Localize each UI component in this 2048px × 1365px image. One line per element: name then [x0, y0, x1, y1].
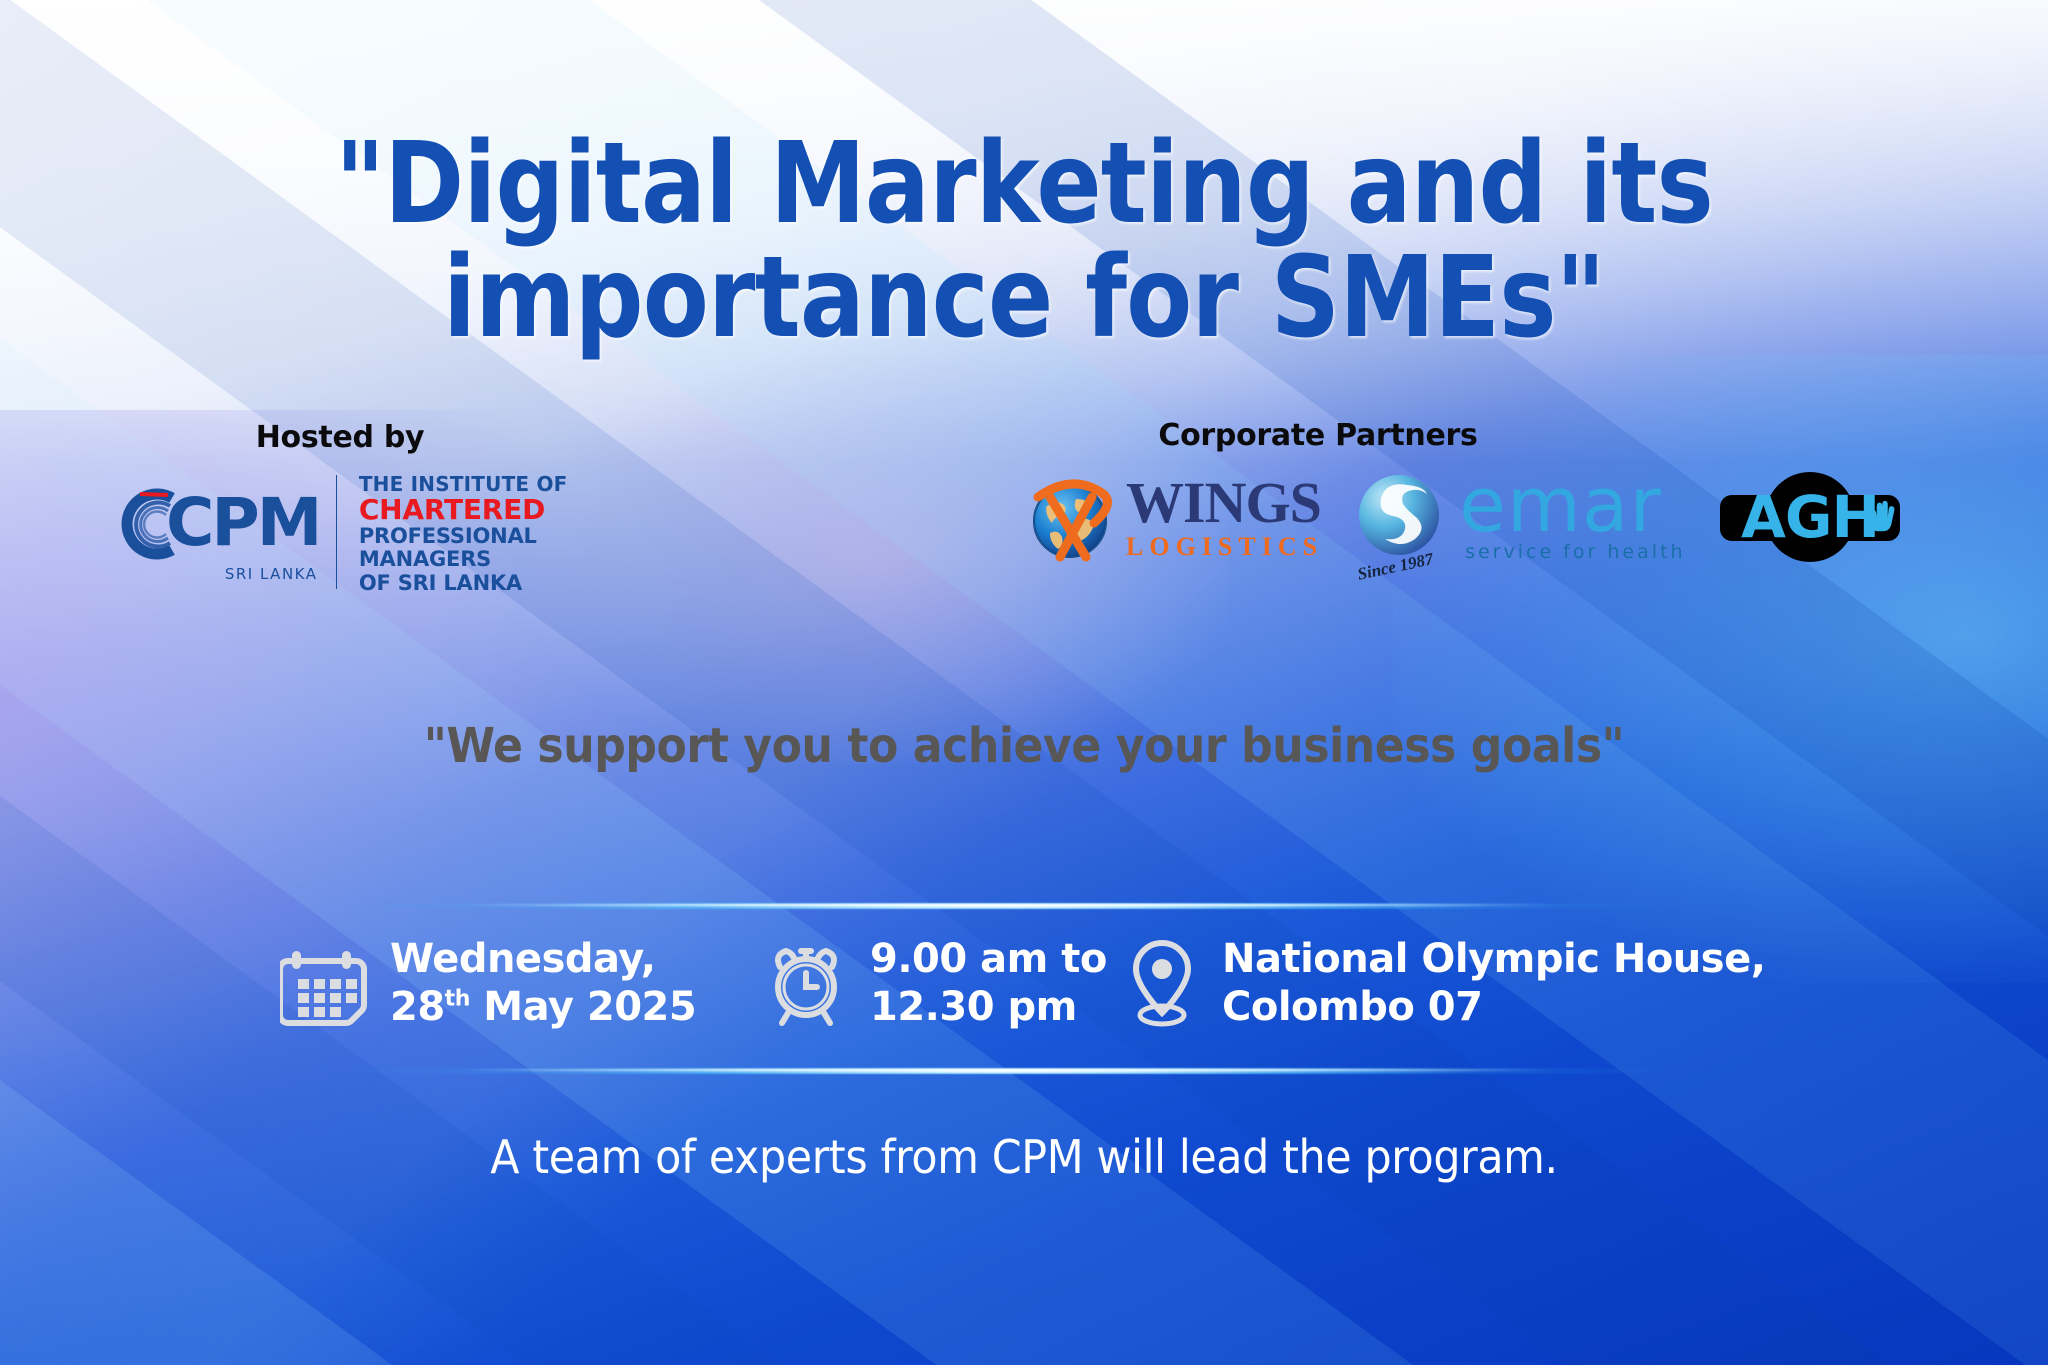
- corporate-partners-block: Corporate Partners: [1020, 418, 1980, 571]
- svg-text:AGH: AGH: [1740, 483, 1878, 551]
- event-date-item: Wednesday, 28th May 2025: [280, 935, 760, 1031]
- cpm-logo-text: THE INSTITUTE OF CHARTERED PROFESSIONAL …: [359, 473, 570, 595]
- partner-logo-emar: Since 1987 emar service for health: [1349, 467, 1685, 571]
- corporate-partners-label: Corporate Partners: [1038, 418, 1598, 453]
- emar-tagline: service for health: [1459, 541, 1685, 563]
- event-info-bar: Wednesday, 28th May 2025 9.0: [280, 935, 1800, 1031]
- cpm-logomark: CPM SRI LANKA: [110, 486, 320, 583]
- partner-logo-wings: WINGS LOGISTICS: [1020, 471, 1323, 567]
- wings-tagline: LOGISTICS: [1126, 532, 1323, 562]
- wings-wordmark: WINGS: [1126, 476, 1323, 529]
- event-date-ordinal: th: [445, 987, 470, 1012]
- event-title-line-1: "Digital Marketing and its: [335, 119, 1713, 249]
- partner-logo-row: WINGS LOGISTICS: [1020, 467, 1980, 571]
- footer-note: A team of experts from CPM will lead the…: [72, 1130, 1977, 1184]
- event-title-line-2: importance for SMEs": [143, 241, 1904, 355]
- calendar-icon: [280, 937, 372, 1029]
- cpm-country: SRI LANKA: [225, 565, 318, 583]
- partner-logo-agh: AGH: [1712, 469, 1908, 570]
- agh-logomark: AGH: [1712, 469, 1908, 565]
- event-banner: "Digital Marketing and its importance fo…: [0, 0, 2048, 1365]
- hosted-by-label: Hosted by: [110, 420, 570, 455]
- event-venue-line-2: Colombo 07: [1222, 983, 1765, 1031]
- hosted-by-block: Hosted by CPM SRI LANKA: [110, 420, 570, 595]
- cpm-text-line-3: PROFESSIONAL MANAGERS: [359, 525, 570, 572]
- event-date-line-1: Wednesday,: [390, 935, 696, 983]
- cpm-text-line-1: THE INSTITUTE OF: [359, 473, 570, 495]
- event-venue-text: National Olympic House, Colombo 07: [1222, 935, 1765, 1031]
- emar-wordmark: emar: [1459, 475, 1685, 534]
- cpm-monogram: CPM: [166, 497, 320, 550]
- event-date-text: Wednesday, 28th May 2025: [390, 935, 696, 1031]
- cpm-logo: CPM SRI LANKA THE INSTITUTE OF CHARTERED…: [110, 473, 570, 595]
- event-date-month-year: May 2025: [483, 984, 696, 1030]
- event-time-line-1: 9.00 am to: [870, 935, 1107, 983]
- location-pin-icon: [1120, 935, 1204, 1031]
- event-date-day: 28: [390, 984, 445, 1030]
- event-time-line-2: 12.30 pm: [870, 983, 1107, 1031]
- cpm-text-line-2: CHARTERED: [359, 495, 570, 524]
- event-venue-item: National Olympic House, Colombo 07: [1120, 935, 1800, 1031]
- wings-globe-icon: [1020, 471, 1120, 567]
- alarm-clock-icon: [760, 937, 852, 1029]
- event-venue-line-1: National Olympic House,: [1222, 935, 1765, 983]
- cpm-text-line-4: OF SRI LANKA: [359, 572, 570, 596]
- cpm-logo-divider: [336, 475, 337, 589]
- event-time-item: 9.00 am to 12.30 pm: [760, 935, 1120, 1031]
- event-time-text: 9.00 am to 12.30 pm: [870, 935, 1107, 1031]
- info-divider-bottom: [355, 1068, 1655, 1074]
- info-divider-top: [355, 903, 1655, 909]
- support-quote: "We support you to achieve your business…: [82, 718, 1966, 774]
- event-title: "Digital Marketing and its importance fo…: [143, 127, 1904, 355]
- event-date-line-2: 28th May 2025: [390, 983, 696, 1031]
